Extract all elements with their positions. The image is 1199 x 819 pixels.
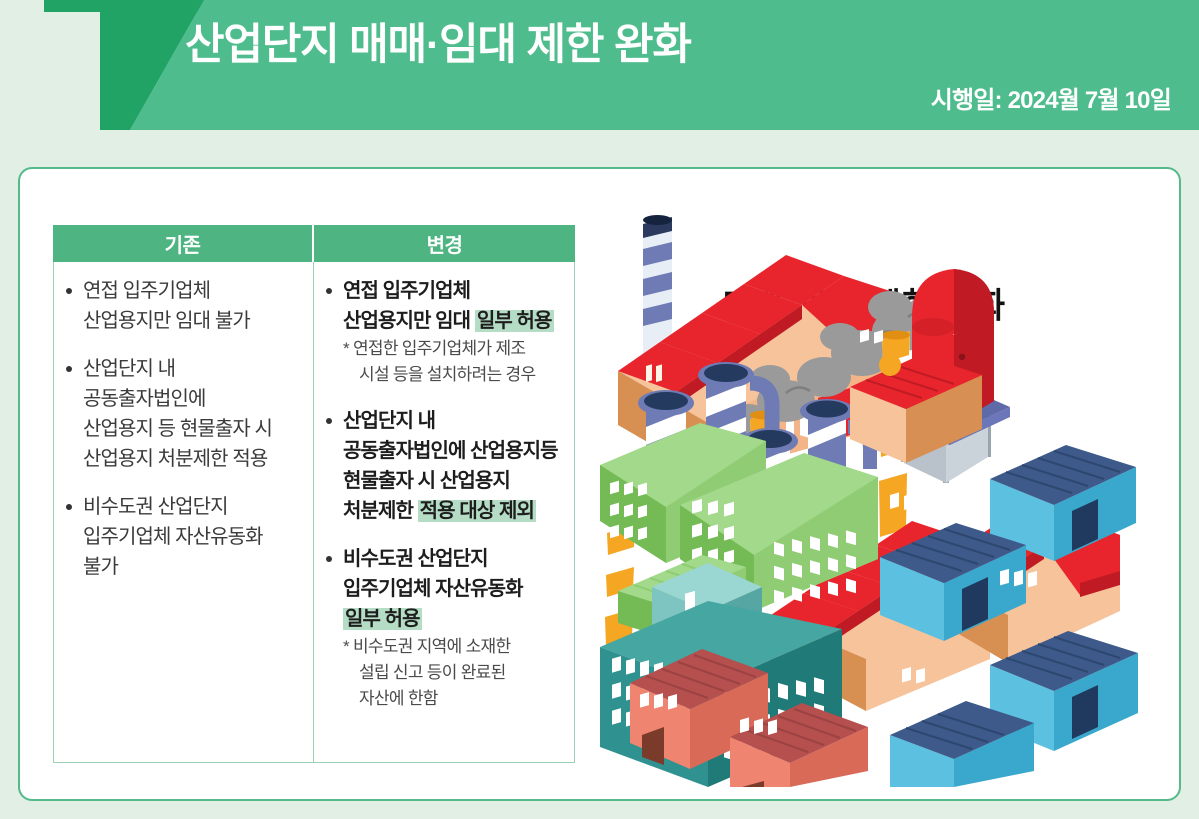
bullet-line: 연접 입주기업체 [83,276,303,306]
list-item: 산업단지 내 공동출자법인에 산업용지 등 현물출자 시 산업용지 처분제한 적… [62,354,303,474]
effective-date: 시행일: 2024월 7월 10일 [931,80,1171,115]
table-header-changed: 변경 [314,225,575,262]
note-line: * 비수도권 지역에 소재한 [343,634,564,660]
bullet-line: 산업용지만 임대 불가 [83,306,303,336]
highlight-mark: 일부 허용 [475,310,554,332]
industrial-complex-graphic [590,187,1165,787]
note-line: * 연접한 입주기업체가 제조 [343,336,564,362]
bullet-line: 산업용지 등 현물출자 시 [83,414,303,444]
note-line: 자산에 한함 [343,686,564,712]
list-item: 연접 입주기업체 산업용지만 임대 불가 [62,276,303,336]
list-item: 연접 입주기업체 산업용지만 임대 일부 허용 * 연접한 입주기업체가 제조 … [322,276,564,388]
note-line: 설립 신고 등이 완료된 [343,660,564,686]
bullet-line: 산업단지 내 [83,354,303,384]
comparison-table: 기존 변경 연접 입주기업체 산업용지만 임대 불가 산업단지 내 공동출자법인… [53,225,575,763]
industrial-complex-illustration: 매매,임대 제한 완화 [590,187,1165,787]
bullet-line: 공동출자법인에 [83,384,303,414]
list-item: 산업단지 내 공동출자법인에 산업용지등 현물출자 시 산업용지 처분제한 적용… [322,406,564,526]
bullet-line: 입주기업체 자산유동화 [83,522,303,552]
changed-bullet-list: 연접 입주기업체 산업용지만 임대 일부 허용 * 연접한 입주기업체가 제조 … [322,276,564,712]
existing-bullet-list: 연접 입주기업체 산업용지만 임대 불가 산업단지 내 공동출자법인에 산업용지… [62,276,303,582]
bullet-line: 연접 입주기업체 [343,276,564,306]
list-item: 비수도권 산업단지 입주기업체 자산유동화 불가 [62,492,303,582]
note-line: 시설 등을 설치하려는 경우 [343,362,564,388]
bullet-line: 불가 [83,552,303,582]
bullet-line: 현물출자 시 산업용지 [343,466,564,496]
page-title: 산업단지 매매·임대 제한 완화 [185,10,691,72]
highlight-mark: 일부 허용 [343,608,422,630]
header-banner: 산업단지 매매·임대 제한 완화 시행일: 2024월 7월 10일 [0,0,1199,136]
bullet-line-prefix: 산업용지만 임대 [343,310,475,332]
main-card: 기존 변경 연접 입주기업체 산업용지만 임대 불가 산업단지 내 공동출자법인… [18,167,1181,801]
table-header-row: 기존 변경 [53,225,575,262]
bullet-line: 산업용지 처분제한 적용 [83,444,303,474]
bullet-line-prefix: 처분제한 [343,500,418,522]
bullet-line: 비수도권 산업단지 [83,492,303,522]
bullet-line-highlighted: 처분제한 적용 대상 제외 [343,496,564,526]
table-body-row: 연접 입주기업체 산업용지만 임대 불가 산업단지 내 공동출자법인에 산업용지… [53,262,575,763]
highlight-mark: 적용 대상 제외 [418,500,536,522]
list-item: 비수도권 산업단지 입주기업체 자산유동화 일부 허용 * 비수도권 지역에 소… [322,544,564,712]
bullet-line-highlighted: 일부 허용 [343,604,564,634]
bullet-line: 비수도권 산업단지 [343,544,564,574]
column-existing: 연접 입주기업체 산업용지만 임대 불가 산업단지 내 공동출자법인에 산업용지… [54,262,314,762]
column-changed: 연접 입주기업체 산업용지만 임대 일부 허용 * 연접한 입주기업체가 제조 … [314,262,574,762]
bullet-line-highlighted: 산업용지만 임대 일부 허용 [343,306,564,336]
bullet-line: 산업단지 내 [343,406,564,436]
bullet-line: 입주기업체 자산유동화 [343,574,564,604]
table-header-existing: 기존 [53,225,314,262]
bullet-line: 공동출자법인에 산업용지등 [343,436,564,466]
